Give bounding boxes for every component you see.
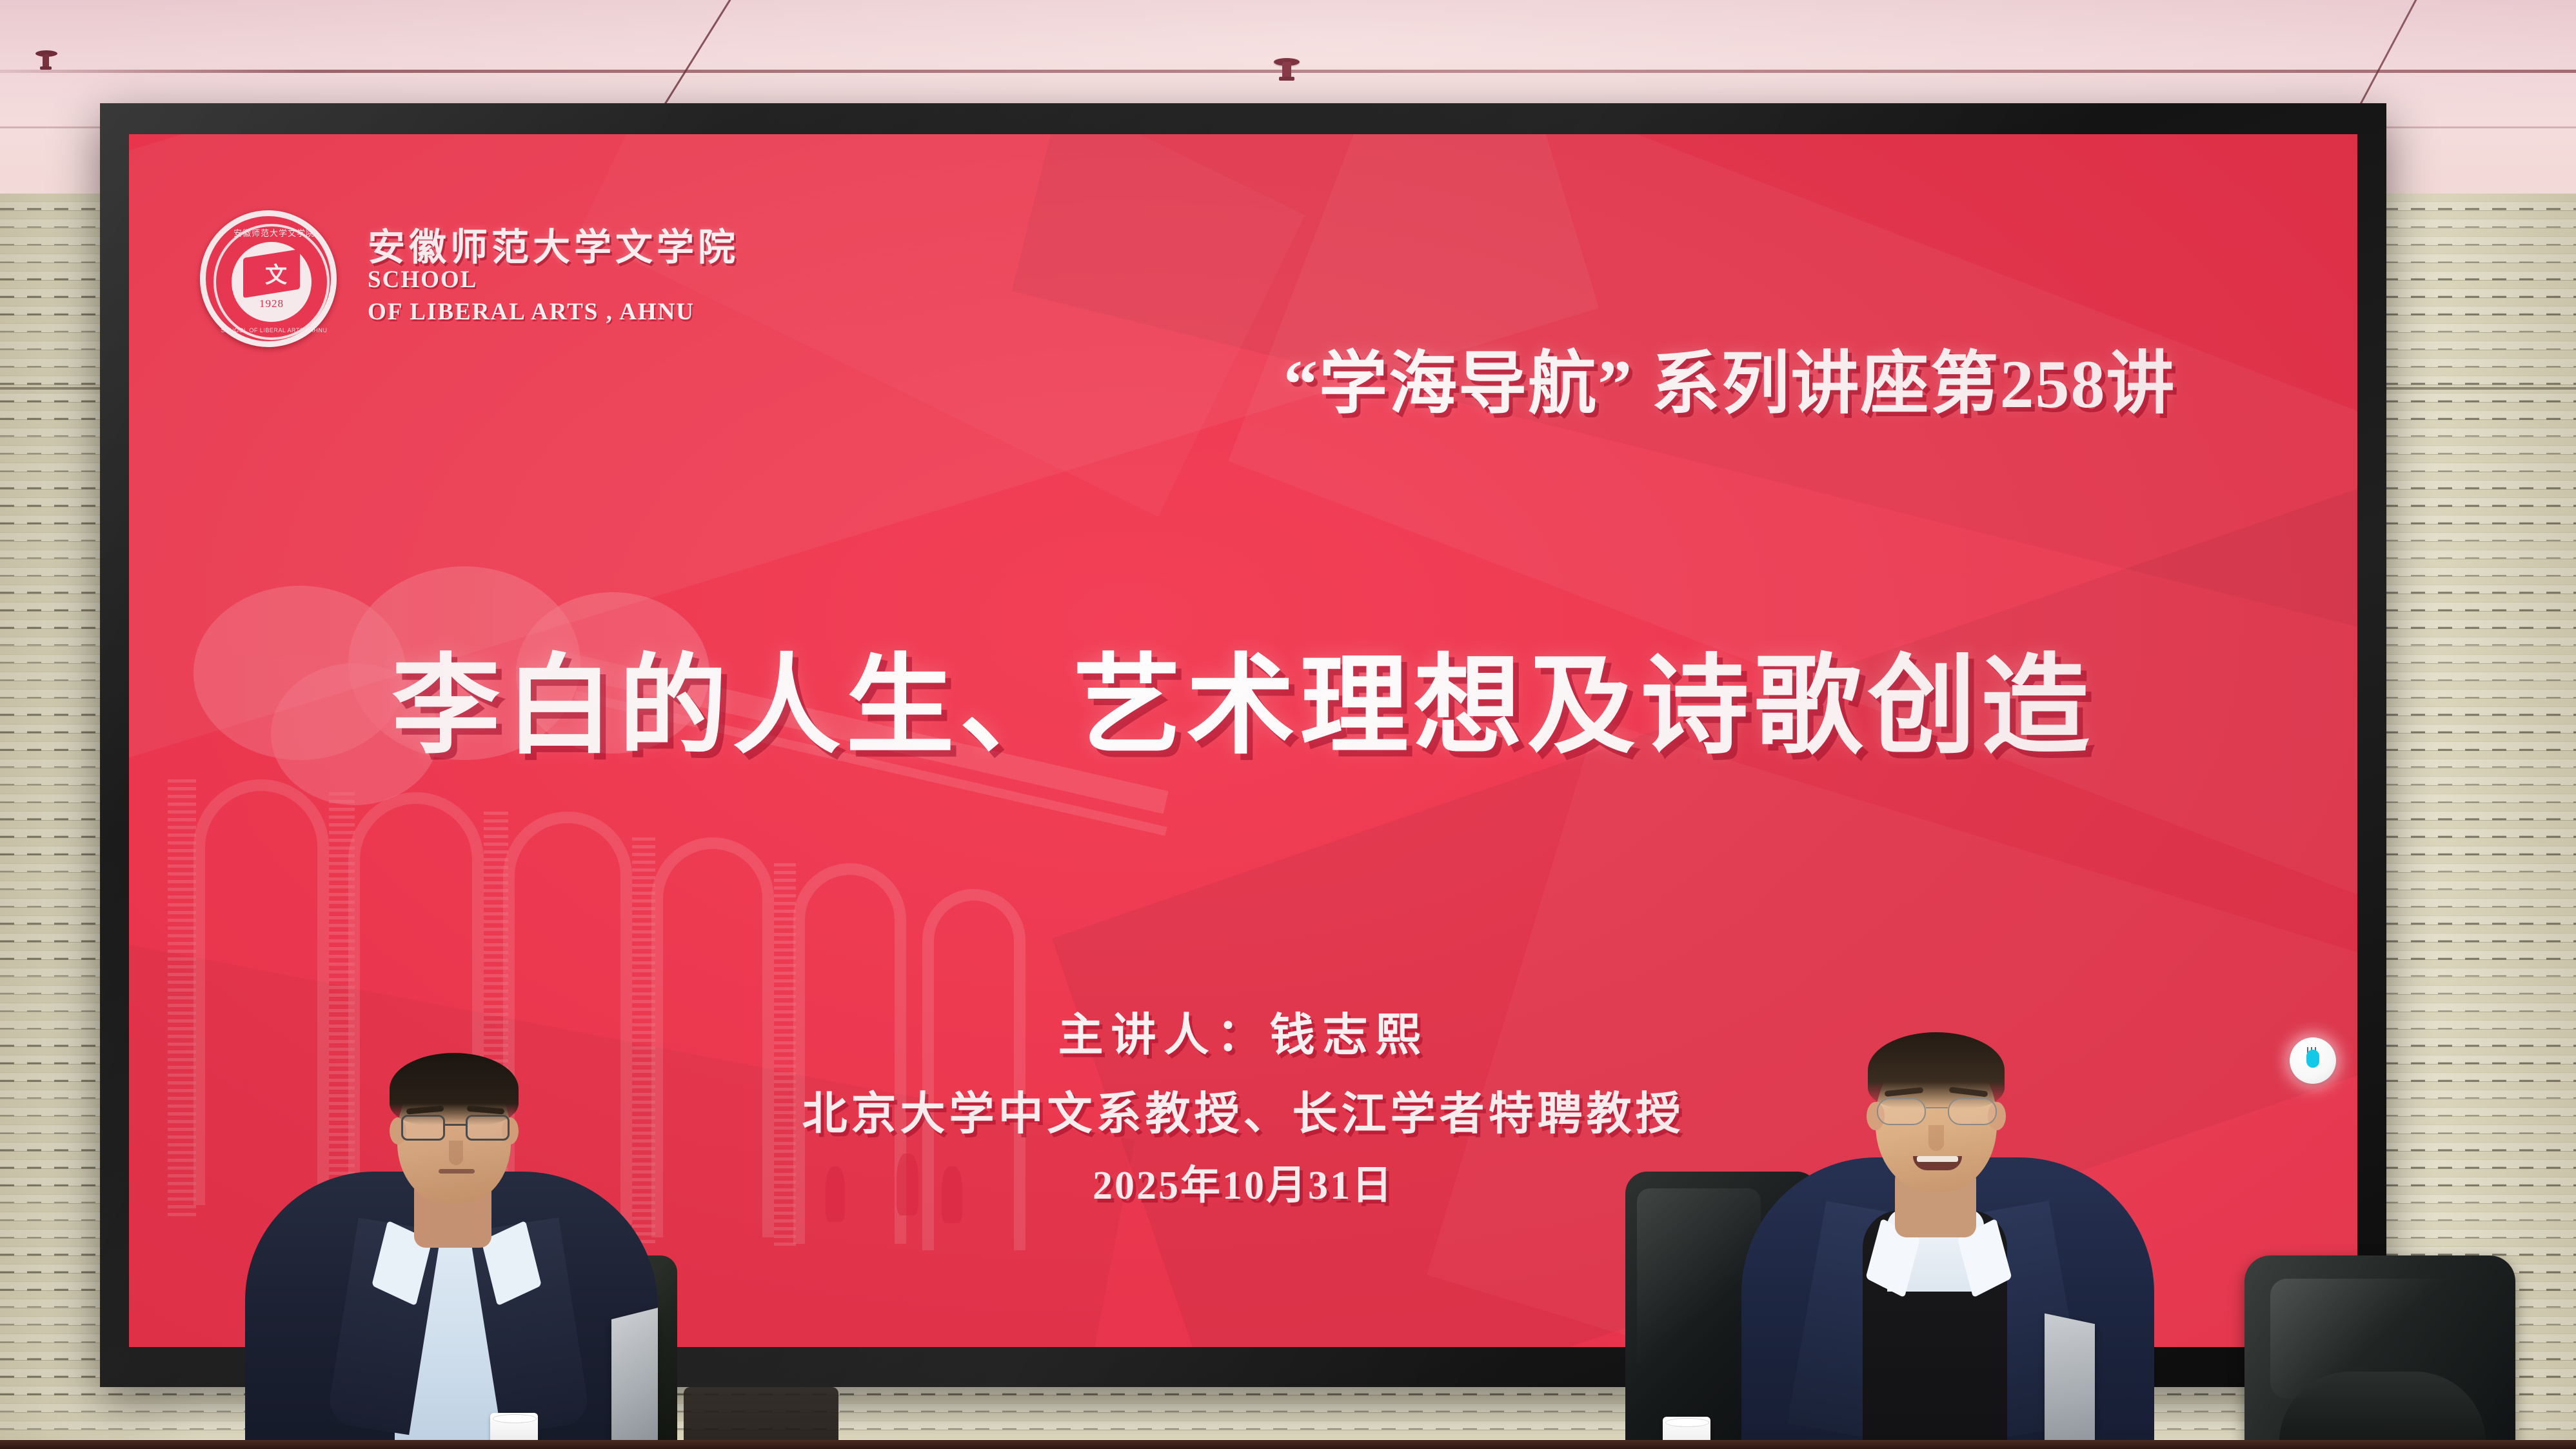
wall-panel-seam	[2386, 387, 2576, 390]
seated-person-left	[245, 1032, 658, 1449]
nose-right	[1928, 1125, 1944, 1151]
empty-leather-chair	[2244, 1255, 2515, 1449]
hair-right	[1868, 1032, 2005, 1108]
mouth-left	[439, 1169, 475, 1174]
eyeglasses-right-person	[1876, 1098, 1998, 1128]
teeth-right	[1917, 1156, 1958, 1162]
fire-sprinkler-icon-2	[35, 50, 57, 76]
fire-sprinkler-icon	[1274, 57, 1300, 86]
eyeglasses-left-person	[399, 1115, 512, 1142]
microphone-status-badge[interactable]	[2290, 1037, 2336, 1084]
lecture-hall-photo: 安徽师范大学文学院 文 1928 SCHOOL OF LIBERAL ARTS …	[0, 0, 2576, 1449]
laptop-screen-left	[611, 1308, 658, 1449]
microphone-icon	[2304, 1050, 2321, 1072]
table-edge	[0, 1440, 2576, 1449]
seated-person-right	[1703, 1006, 2167, 1449]
nose-left	[449, 1141, 463, 1165]
laptop-screen-right	[2045, 1314, 2095, 1449]
